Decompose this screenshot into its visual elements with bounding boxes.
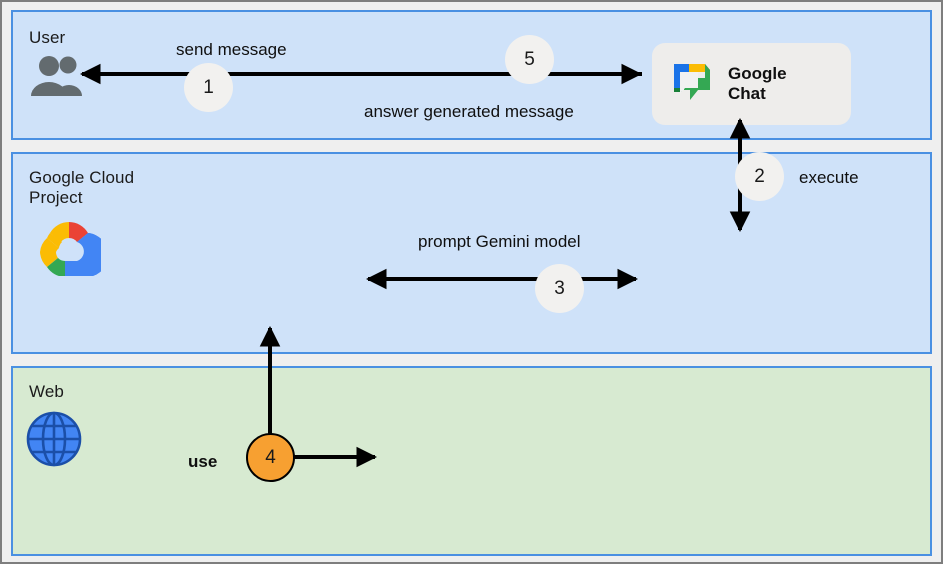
step-badge-2-label: 2 [754, 166, 765, 188]
band-user: User send message answer generated messa… [11, 10, 932, 140]
label-send-message: send message [176, 40, 287, 60]
step-badge-2[interactable]: 2 [735, 152, 784, 201]
diagram-canvas: User send message answer generated messa… [0, 0, 943, 564]
label-execute: execute [799, 168, 859, 188]
google-cloud-icon [37, 220, 101, 281]
band-google-cloud-project-title: Google Cloud Project [29, 168, 134, 208]
card-google-chat[interactable]: Google Chat [652, 43, 851, 125]
label-use: use [188, 452, 217, 472]
step-badge-4-label: 4 [265, 447, 276, 469]
band-google-cloud-project: Google Cloud Project prompt Gemini model… [11, 152, 932, 354]
globe-icon [25, 410, 83, 473]
google-chat-icon [668, 58, 716, 111]
band-user-title: User [29, 28, 65, 48]
step-badge-1-label: 1 [203, 77, 214, 99]
label-answer-generated-message: answer generated message [364, 102, 574, 122]
step-badge-4[interactable]: 4 [246, 433, 295, 482]
step-badge-1[interactable]: 1 [184, 63, 233, 112]
step-badge-3-label: 3 [554, 278, 565, 300]
card-google-chat-label: Google Chat [728, 64, 787, 104]
band-web-title: Web [29, 382, 64, 402]
step-badge-3[interactable]: 3 [535, 264, 584, 313]
step-badge-5-label: 5 [524, 49, 535, 71]
users-icon [27, 54, 87, 103]
step-badge-5[interactable]: 5 [505, 35, 554, 84]
label-prompt-gemini-model: prompt Gemini model [418, 232, 581, 252]
band-web: Web use [11, 366, 932, 556]
